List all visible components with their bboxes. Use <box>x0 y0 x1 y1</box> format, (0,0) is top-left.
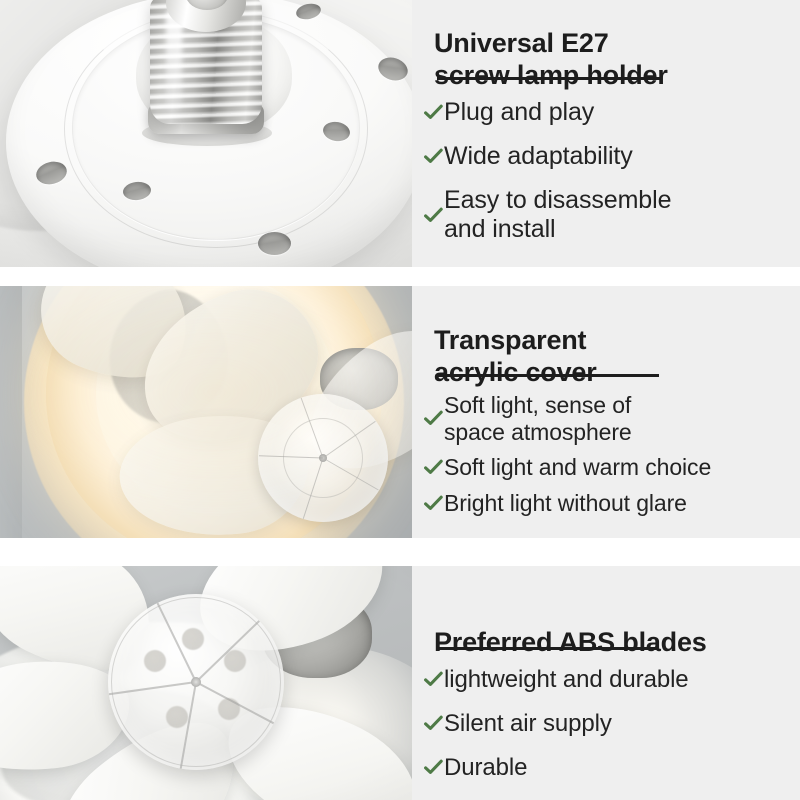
heading-underline <box>437 374 659 377</box>
bullet-text: Soft light and warm choice <box>444 454 711 481</box>
bullet-text: Silent air supply <box>444 710 612 738</box>
bullet-text: Soft light, sense of space atmosphere <box>444 392 632 445</box>
heading-underline <box>437 647 657 650</box>
list-item: Soft light and warm choice <box>422 454 796 481</box>
product-photo-acrylic-cover <box>0 286 412 538</box>
feature-copy-abs-blades: Preferred ABS blades lightweight and dur… <box>412 566 800 800</box>
feature-copy-e27-holder: Universal E27 screw lamp holder Plug and… <box>412 0 800 267</box>
panel-heading: Universal E27 screw lamp holder <box>434 28 668 91</box>
check-icon <box>422 459 444 476</box>
feature-panel-e27-holder: Universal E27 screw lamp holder Plug and… <box>0 0 800 267</box>
list-item: Soft light, sense of space atmosphere <box>422 392 796 445</box>
feature-bullet-list: Plug and play Wide adaptability Easy to … <box>422 98 796 259</box>
feature-panel-acrylic-cover: Transparent acrylic cover Soft light, se… <box>0 286 800 538</box>
panel-heading: Transparent acrylic cover <box>434 325 597 388</box>
check-icon <box>422 148 444 165</box>
heading-underline <box>437 77 662 80</box>
list-item: Wide adaptability <box>422 142 796 171</box>
bullet-text: Bright light without glare <box>444 490 687 517</box>
bullet-text: Durable <box>444 754 527 782</box>
product-feature-infographic: Universal E27 screw lamp holder Plug and… <box>0 0 800 800</box>
list-item: lightweight and durable <box>422 666 796 694</box>
list-item: Plug and play <box>422 98 796 127</box>
bullet-text: Easy to disassemble and install <box>444 186 671 244</box>
bullet-text: Wide adaptability <box>444 142 633 171</box>
check-icon <box>422 759 444 776</box>
product-photo-abs-blades <box>0 566 412 800</box>
list-item: Durable <box>422 754 796 782</box>
product-photo-e27-lamp-holder <box>0 0 412 267</box>
bullet-text: lightweight and durable <box>444 666 689 694</box>
feature-copy-acrylic-cover: Transparent acrylic cover Soft light, se… <box>412 286 800 538</box>
check-icon <box>422 715 444 732</box>
panel-heading: Preferred ABS blades <box>434 627 707 658</box>
check-icon <box>422 495 444 512</box>
list-item: Easy to disassemble and install <box>422 186 796 244</box>
check-icon <box>422 671 444 688</box>
feature-panel-abs-blades: Preferred ABS blades lightweight and dur… <box>0 566 800 800</box>
bullet-text: Plug and play <box>444 98 594 127</box>
list-item: Bright light without glare <box>422 490 796 517</box>
check-icon <box>422 104 444 121</box>
feature-bullet-list: Soft light, sense of space atmosphere So… <box>422 392 796 526</box>
check-icon <box>422 207 444 224</box>
list-item: Silent air supply <box>422 710 796 738</box>
check-icon <box>422 410 444 427</box>
feature-bullet-list: lightweight and durable Silent air suppl… <box>422 666 796 797</box>
